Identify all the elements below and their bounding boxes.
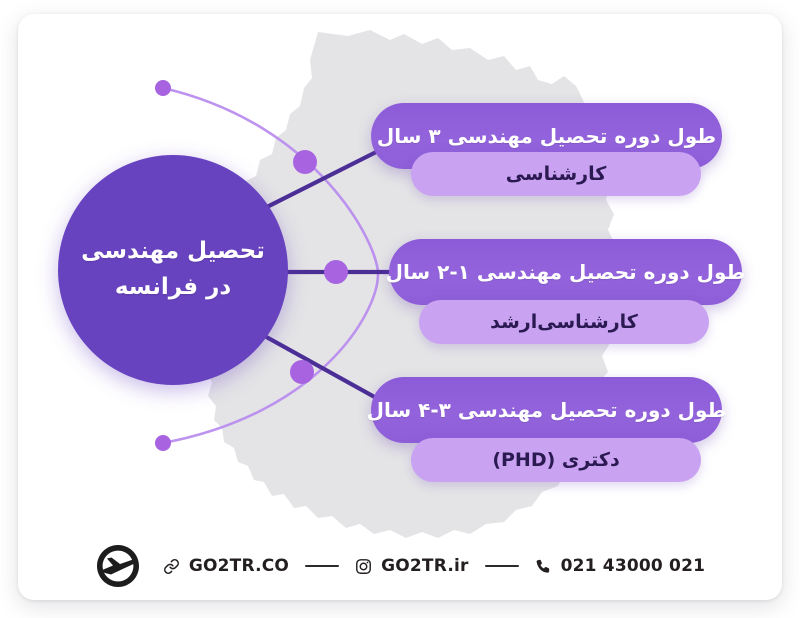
branch-1-sub-pill[interactable]: کارشناسی: [411, 152, 701, 196]
branch-2-main-pill[interactable]: طول دوره تحصیل مهندسی ۱-۲ سال: [389, 239, 742, 305]
branch-2-main-label: طول دوره تحصیل مهندسی ۱-۲ سال: [386, 260, 746, 284]
footer-phone[interactable]: 021 43000 021: [535, 556, 706, 576]
branch-node-3: [290, 360, 314, 384]
footer-instagram-label: GO2TR.ir: [381, 556, 469, 576]
center-title-line2: در فرانسه: [115, 270, 231, 306]
go2tr-airplane-logo: [95, 543, 141, 589]
arc-endpoint-top: [155, 80, 171, 96]
arc-endpoint-bottom: [155, 435, 171, 451]
link-icon: [163, 558, 180, 575]
center-title-line1: تحصیل مهندسی: [81, 234, 265, 270]
footer-phone-label: 021 43000 021: [561, 556, 706, 576]
branch-3-sub-pill[interactable]: دکتری (PHD): [411, 438, 701, 482]
branch-3-main-label: طول دوره تحصیل مهندسی ۳-۴ سال: [367, 398, 727, 422]
footer-separator-1: [305, 565, 339, 567]
footer-website-label: GO2TR.CO: [189, 556, 289, 576]
branch-3-sub-label: دکتری (PHD): [492, 449, 619, 471]
footer-separator-2: [485, 565, 519, 567]
center-circle: تحصیل مهندسی در فرانسه: [58, 155, 288, 385]
instagram-icon: [355, 558, 372, 575]
footer-instagram[interactable]: GO2TR.ir: [355, 556, 469, 576]
branch-node-2: [324, 260, 348, 284]
footer-website[interactable]: GO2TR.CO: [163, 556, 289, 576]
branch-1-main-label: طول دوره تحصیل مهندسی ۳ سال: [377, 124, 716, 148]
branch-node-1: [293, 150, 317, 174]
branch-2-sub-label: کارشناسی‌ارشد: [490, 311, 638, 333]
branch-2-sub-pill[interactable]: کارشناسی‌ارشد: [419, 300, 709, 344]
infographic-card: تحصیل مهندسی در فرانسه طول دوره تحصیل مه…: [18, 14, 782, 600]
branch-1-sub-label: کارشناسی: [506, 163, 607, 185]
phone-icon: [535, 558, 552, 575]
branch-3-main-pill[interactable]: طول دوره تحصیل مهندسی ۳-۴ سال: [371, 377, 722, 443]
footer-bar: GO2TR.CO GO2TR.ir 021 43000 021: [18, 532, 782, 600]
